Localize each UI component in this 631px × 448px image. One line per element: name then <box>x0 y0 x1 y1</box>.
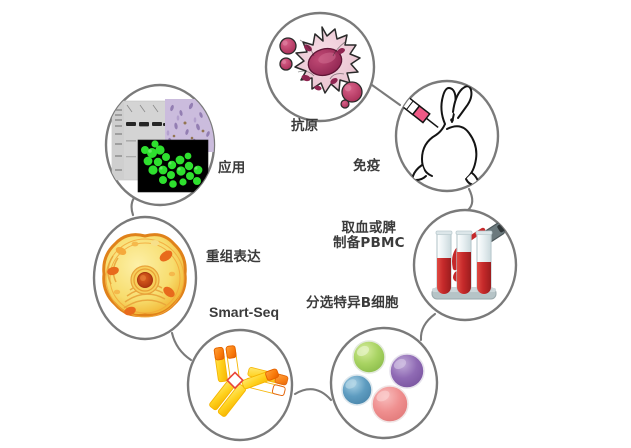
workflow-diagram: 抗原 免疫 取血或脾 制备PBMC 分选特异B细胞 Smart-Seq 重组表达… <box>0 0 631 448</box>
expressing-cell-icon <box>104 235 186 317</box>
connector-bcell-smartseq <box>295 389 331 400</box>
label-application: 应用 <box>218 161 245 176</box>
node-pbmc[interactable] <box>414 210 516 320</box>
label-recombinant-expression: 重组表达 <box>206 250 261 265</box>
node-immunization[interactable] <box>385 81 498 191</box>
connector-smartseq-expression <box>172 333 191 360</box>
application-assays-icon <box>112 99 218 192</box>
label-pbmc: 取血或脾 制备PBMC <box>333 221 405 251</box>
test-tube <box>456 231 472 294</box>
node-recombinant-expression[interactable] <box>94 217 196 339</box>
connector-antigen-immunization <box>372 85 400 105</box>
node-antigen[interactable] <box>266 13 374 121</box>
cell-green <box>353 341 385 373</box>
fluorescence-image <box>138 140 208 192</box>
diagram-canvas <box>0 0 631 448</box>
label-immunization: 免疫 <box>353 159 380 174</box>
connector-pbmc-bcell <box>421 314 435 340</box>
connector-immunization-pbmc <box>468 189 472 210</box>
node-smart-seq[interactable] <box>188 330 292 440</box>
label-smart-seq: Smart-Seq <box>209 305 279 320</box>
node-bcell-sorting[interactable] <box>331 328 437 438</box>
test-tube <box>436 231 452 294</box>
label-antigen: 抗原 <box>291 119 318 134</box>
node-application[interactable] <box>106 85 218 205</box>
label-bcell-sorting: 分选特异B细胞 <box>306 296 399 311</box>
cell-purple <box>390 354 424 388</box>
test-tube <box>476 231 492 294</box>
cell-pink <box>372 386 408 422</box>
cell-blue <box>342 375 372 405</box>
